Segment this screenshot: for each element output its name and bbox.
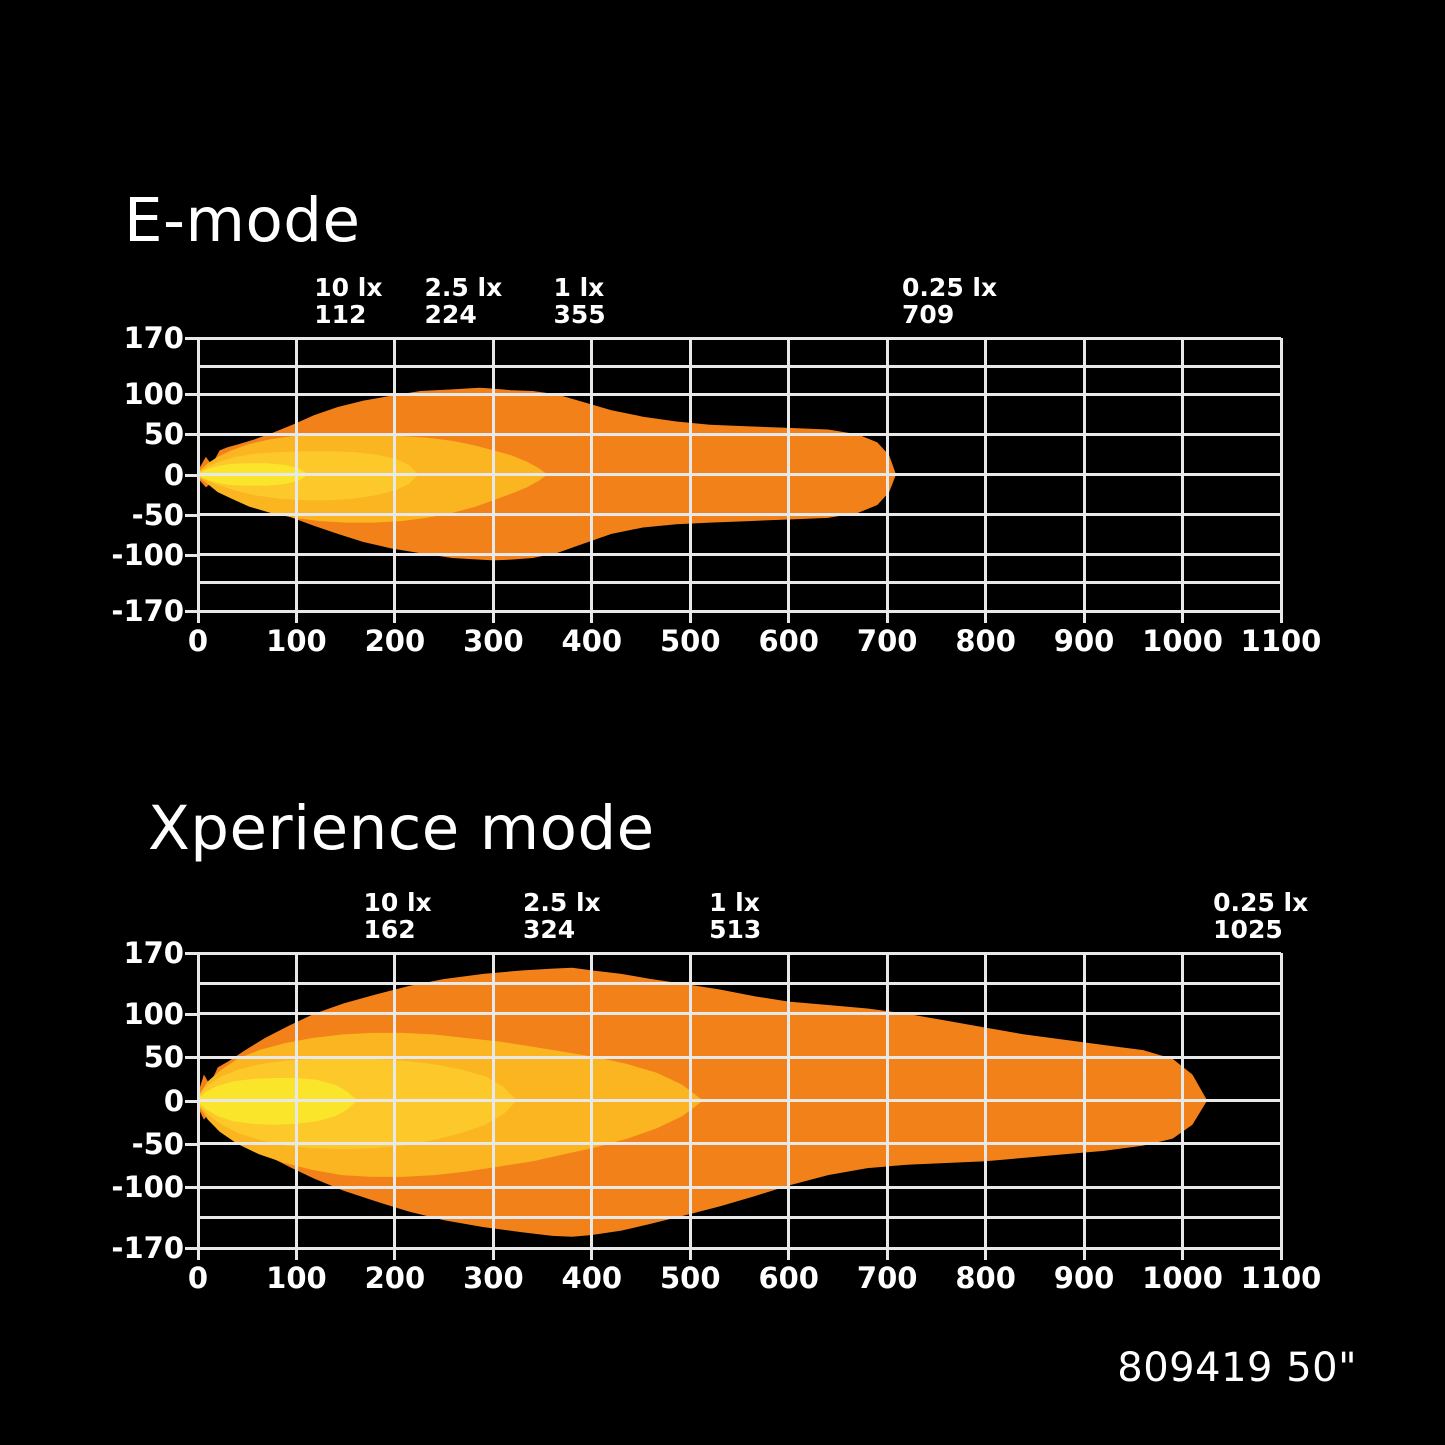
y-axis-tick-mark xyxy=(185,1013,198,1016)
y-axis-tick-label: 100 xyxy=(123,377,184,411)
lux-value: 0.25 lx xyxy=(902,275,997,302)
y-axis-tick-mark xyxy=(185,1100,198,1103)
y-axis-tick-mark xyxy=(185,337,198,340)
lux-distance: 112 xyxy=(314,302,382,329)
y-axis-tick-label: -50 xyxy=(132,1127,184,1161)
plot-background xyxy=(198,953,1281,1248)
y-axis-tick-mark xyxy=(185,393,198,396)
x-axis-tick-mark xyxy=(787,1248,790,1260)
lux-value: 2.5 lx xyxy=(523,890,601,917)
x-axis-tick-mark xyxy=(295,1248,298,1260)
x-axis-tick-label: 0 xyxy=(188,1261,208,1295)
x-axis-tick-mark xyxy=(393,1248,396,1260)
x-axis-tick-label: 300 xyxy=(463,1261,524,1295)
x-axis-tick-mark xyxy=(984,1248,987,1260)
x-axis-tick-mark xyxy=(1181,1248,1184,1260)
lux-annotation: 0.25 lx1025 xyxy=(1213,890,1308,943)
x-axis-tick-mark xyxy=(1083,1248,1086,1260)
lux-annotation: 2.5 lx324 xyxy=(523,890,601,943)
lux-distance: 324 xyxy=(523,917,601,944)
x-axis-tick-mark xyxy=(886,1248,889,1260)
lux-annotation: 10 lx162 xyxy=(363,890,431,943)
x-axis-tick-label: 800 xyxy=(955,1261,1016,1295)
y-axis-tick-mark xyxy=(185,1186,198,1189)
y-axis-tick-label: -100 xyxy=(111,538,184,572)
x-axis-tick-label: 900 xyxy=(1054,1261,1115,1295)
chart-title-xperience-mode: Xperience mode xyxy=(148,793,655,864)
lux-annotation: 0.25 lx709 xyxy=(902,275,997,328)
lux-value: 0.25 lx xyxy=(1213,890,1308,917)
lux-value: 1 lx xyxy=(709,890,761,917)
y-axis-tick-label: 100 xyxy=(123,997,184,1031)
y-axis-tick-mark xyxy=(185,514,198,517)
lux-distance: 355 xyxy=(554,302,606,329)
x-axis-tick-label: 700 xyxy=(857,1261,918,1295)
x-axis-tick-mark xyxy=(1280,1248,1283,1260)
x-axis-tick-mark xyxy=(197,1248,200,1260)
y-axis-tick-label: -50 xyxy=(132,498,184,532)
plot-background xyxy=(198,338,1281,611)
x-axis-tick-label: 200 xyxy=(365,1261,426,1295)
lux-distance: 1025 xyxy=(1213,917,1308,944)
x-axis-tick-label: 1000 xyxy=(1142,1261,1223,1295)
y-axis-tick-label: 50 xyxy=(144,1040,184,1074)
y-axis-tick-label: 0 xyxy=(164,1084,184,1118)
lux-value: 10 lx xyxy=(314,275,382,302)
plot-area-xperience-mode: 170100500-50-100-17001002003004005006007… xyxy=(198,953,1281,1248)
plot-area-e-mode: 170100500-50-100-17001002003004005006007… xyxy=(198,338,1281,611)
y-axis-tick-label: 0 xyxy=(164,458,184,492)
diagram-canvas: E-mode 170100500-50-100-1700100200300400… xyxy=(0,0,1445,1445)
beam-chart-xperience-mode: Xperience mode 170100500-50-100-17001002… xyxy=(0,615,1445,1355)
lux-value: 2.5 lx xyxy=(425,275,503,302)
y-axis-tick-mark xyxy=(185,952,198,955)
y-axis-tick-label: -170 xyxy=(111,1231,184,1265)
lux-distance: 513 xyxy=(709,917,761,944)
y-axis-tick-label: 50 xyxy=(144,417,184,451)
lux-distance: 162 xyxy=(363,917,431,944)
y-axis-tick-mark xyxy=(185,554,198,557)
lux-annotation: 2.5 lx224 xyxy=(425,275,503,328)
lux-value: 1 lx xyxy=(554,275,606,302)
x-axis-tick-mark xyxy=(590,1248,593,1260)
y-axis-tick-mark xyxy=(185,474,198,477)
x-axis-tick-label: 100 xyxy=(266,1261,327,1295)
product-code-label: 809419 50" xyxy=(1117,1345,1357,1391)
beam-pattern-xperience-mode xyxy=(198,953,1281,1248)
lux-annotation: 1 lx513 xyxy=(709,890,761,943)
x-axis-tick-label: 400 xyxy=(562,1261,623,1295)
y-axis-tick-label: -100 xyxy=(111,1170,184,1204)
x-axis-tick-mark xyxy=(492,1248,495,1260)
x-axis-tick-mark xyxy=(689,1248,692,1260)
beam-chart-e-mode: E-mode 170100500-50-100-1700100200300400… xyxy=(0,0,1445,700)
lux-annotation: 1 lx355 xyxy=(554,275,606,328)
lux-distance: 709 xyxy=(902,302,997,329)
y-axis-tick-mark xyxy=(185,1143,198,1146)
x-axis-tick-label: 600 xyxy=(758,1261,819,1295)
x-axis-tick-label: 1100 xyxy=(1241,1261,1322,1295)
lux-annotation: 10 lx112 xyxy=(314,275,382,328)
lux-distance: 224 xyxy=(425,302,503,329)
x-axis-tick-label: 500 xyxy=(660,1261,721,1295)
y-axis-tick-mark xyxy=(185,433,198,436)
chart-title-e-mode: E-mode xyxy=(124,185,361,256)
y-axis-tick-label: 170 xyxy=(123,936,184,970)
lux-value: 10 lx xyxy=(363,890,431,917)
beam-pattern-e-mode xyxy=(198,338,1281,611)
y-axis-tick-mark xyxy=(185,1056,198,1059)
y-axis-tick-label: 170 xyxy=(123,321,184,355)
